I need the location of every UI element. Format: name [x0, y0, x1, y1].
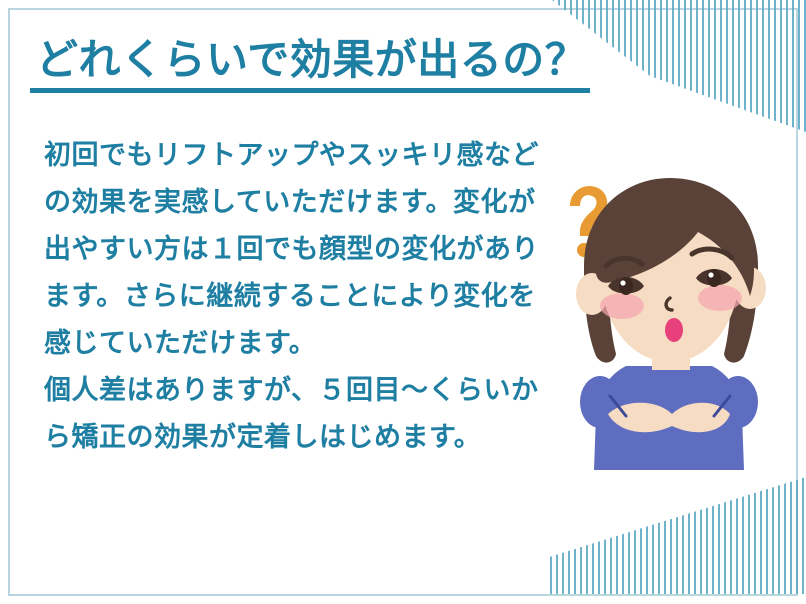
- body-line: ます。さらに継続することにより変化を: [44, 273, 564, 320]
- title-underline-rule: [30, 88, 590, 93]
- body-line: 感じていただけます。: [44, 320, 564, 367]
- page-title: どれくらいで効果が出るの？: [36, 26, 587, 87]
- body-line: 個人差はありますが、５回目〜くらいか: [44, 367, 564, 414]
- body-line: ら矯正の効果が定着しはじめます。: [44, 414, 564, 461]
- body-text-block: 初回でもリフトアップやスッキリ感など の効果を実感していただけます。変化が 出や…: [44, 132, 564, 461]
- body-line: 出やすい方は１回でも顔型の変化があり: [44, 226, 564, 273]
- body-line: 初回でもリフトアップやスッキリ感など: [44, 132, 564, 179]
- mouth: [665, 318, 683, 342]
- slide-canvas: どれくらいで効果が出るの？ 初回でもリフトアップやスッキリ感など の効果を実感し…: [0, 0, 806, 604]
- blush-right: [698, 285, 742, 311]
- body-line: の効果を実感していただけます。変化が: [44, 179, 564, 226]
- blush-left: [600, 293, 644, 319]
- puzzled-woman-illustration: [548, 170, 798, 500]
